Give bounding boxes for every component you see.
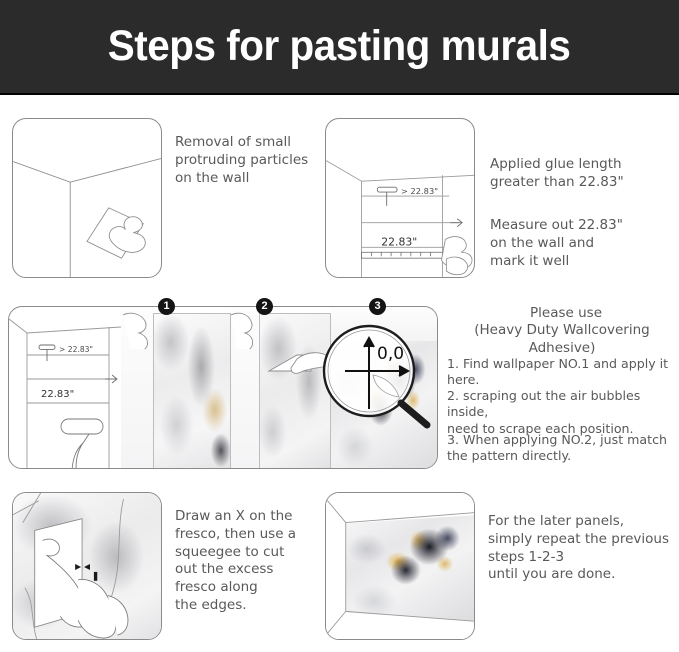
wall-section-left: > 22.83" 22.83" [9,307,121,469]
peeling-hand-icon-2 [225,309,259,349]
arrow-right-icon [450,219,462,227]
badge-step-2: 2 [256,298,273,315]
step3-brush-label: > 22.83" [59,345,93,354]
adhesive-heading-line2: (Heavy Duty Wallcovering Adhesive) [445,322,679,358]
panel-step2-illustration: > 22.83" 22.83" [325,118,475,278]
instruction-item-3: 3. When applying NO.2, just match the pa… [447,432,679,465]
wallpaper-panel-1 [153,313,231,469]
step2-measure-label: 22.83" [381,235,417,248]
panel-step1-illustration [12,118,162,278]
paint-roller-icon [61,419,103,469]
panel-step5-illustration [325,492,475,640]
header-banner: Steps for pasting murals [0,0,679,95]
brush-icon [39,345,55,361]
peeling-hand-icon-1 [117,309,153,349]
wall-corner-icon [13,119,161,277]
page-title: Steps for pasting murals [108,22,571,71]
panel-step3-illustration: > 22.83" 22.83" [8,306,438,469]
panel-step2-caption-top: Applied glue length greater than 22.83" [490,156,675,192]
adhesive-heading-line1: Please use [455,305,677,323]
tape-measure-icon [362,252,446,258]
marking-hand-icon [441,237,472,275]
step3-measure-label: 22.83" [41,389,74,400]
origin-label: 0,0 [377,344,404,364]
brush-icon [377,187,397,206]
scraping-hand-icon [87,208,145,258]
panel-step1-caption: Removal of small protruding particles on… [175,134,325,187]
badge-step-3: 3 [369,298,386,315]
magnifier-icon: 0,0 [315,321,438,431]
instruction-item-1: 1. Find wallpaper NO.1 and apply it here… [447,356,679,389]
badge-step-1: 1 [158,298,175,315]
panel-step4-illustration [12,492,162,640]
instruction-item-2: 2. scraping out the air bubbles inside, … [447,388,679,437]
panel-step5-caption: For the later panels, simply repeat the … [488,513,678,584]
arrow-right-icon [105,375,117,383]
step2-brush-label: > 22.83" [401,186,438,196]
cutting-hand-icon [43,539,128,638]
panel-step4-caption: Draw an X on the fresco, then use a sque… [175,508,325,615]
panel-step2-caption-bottom: Measure out 22.83" on the wall and mark … [490,217,675,270]
